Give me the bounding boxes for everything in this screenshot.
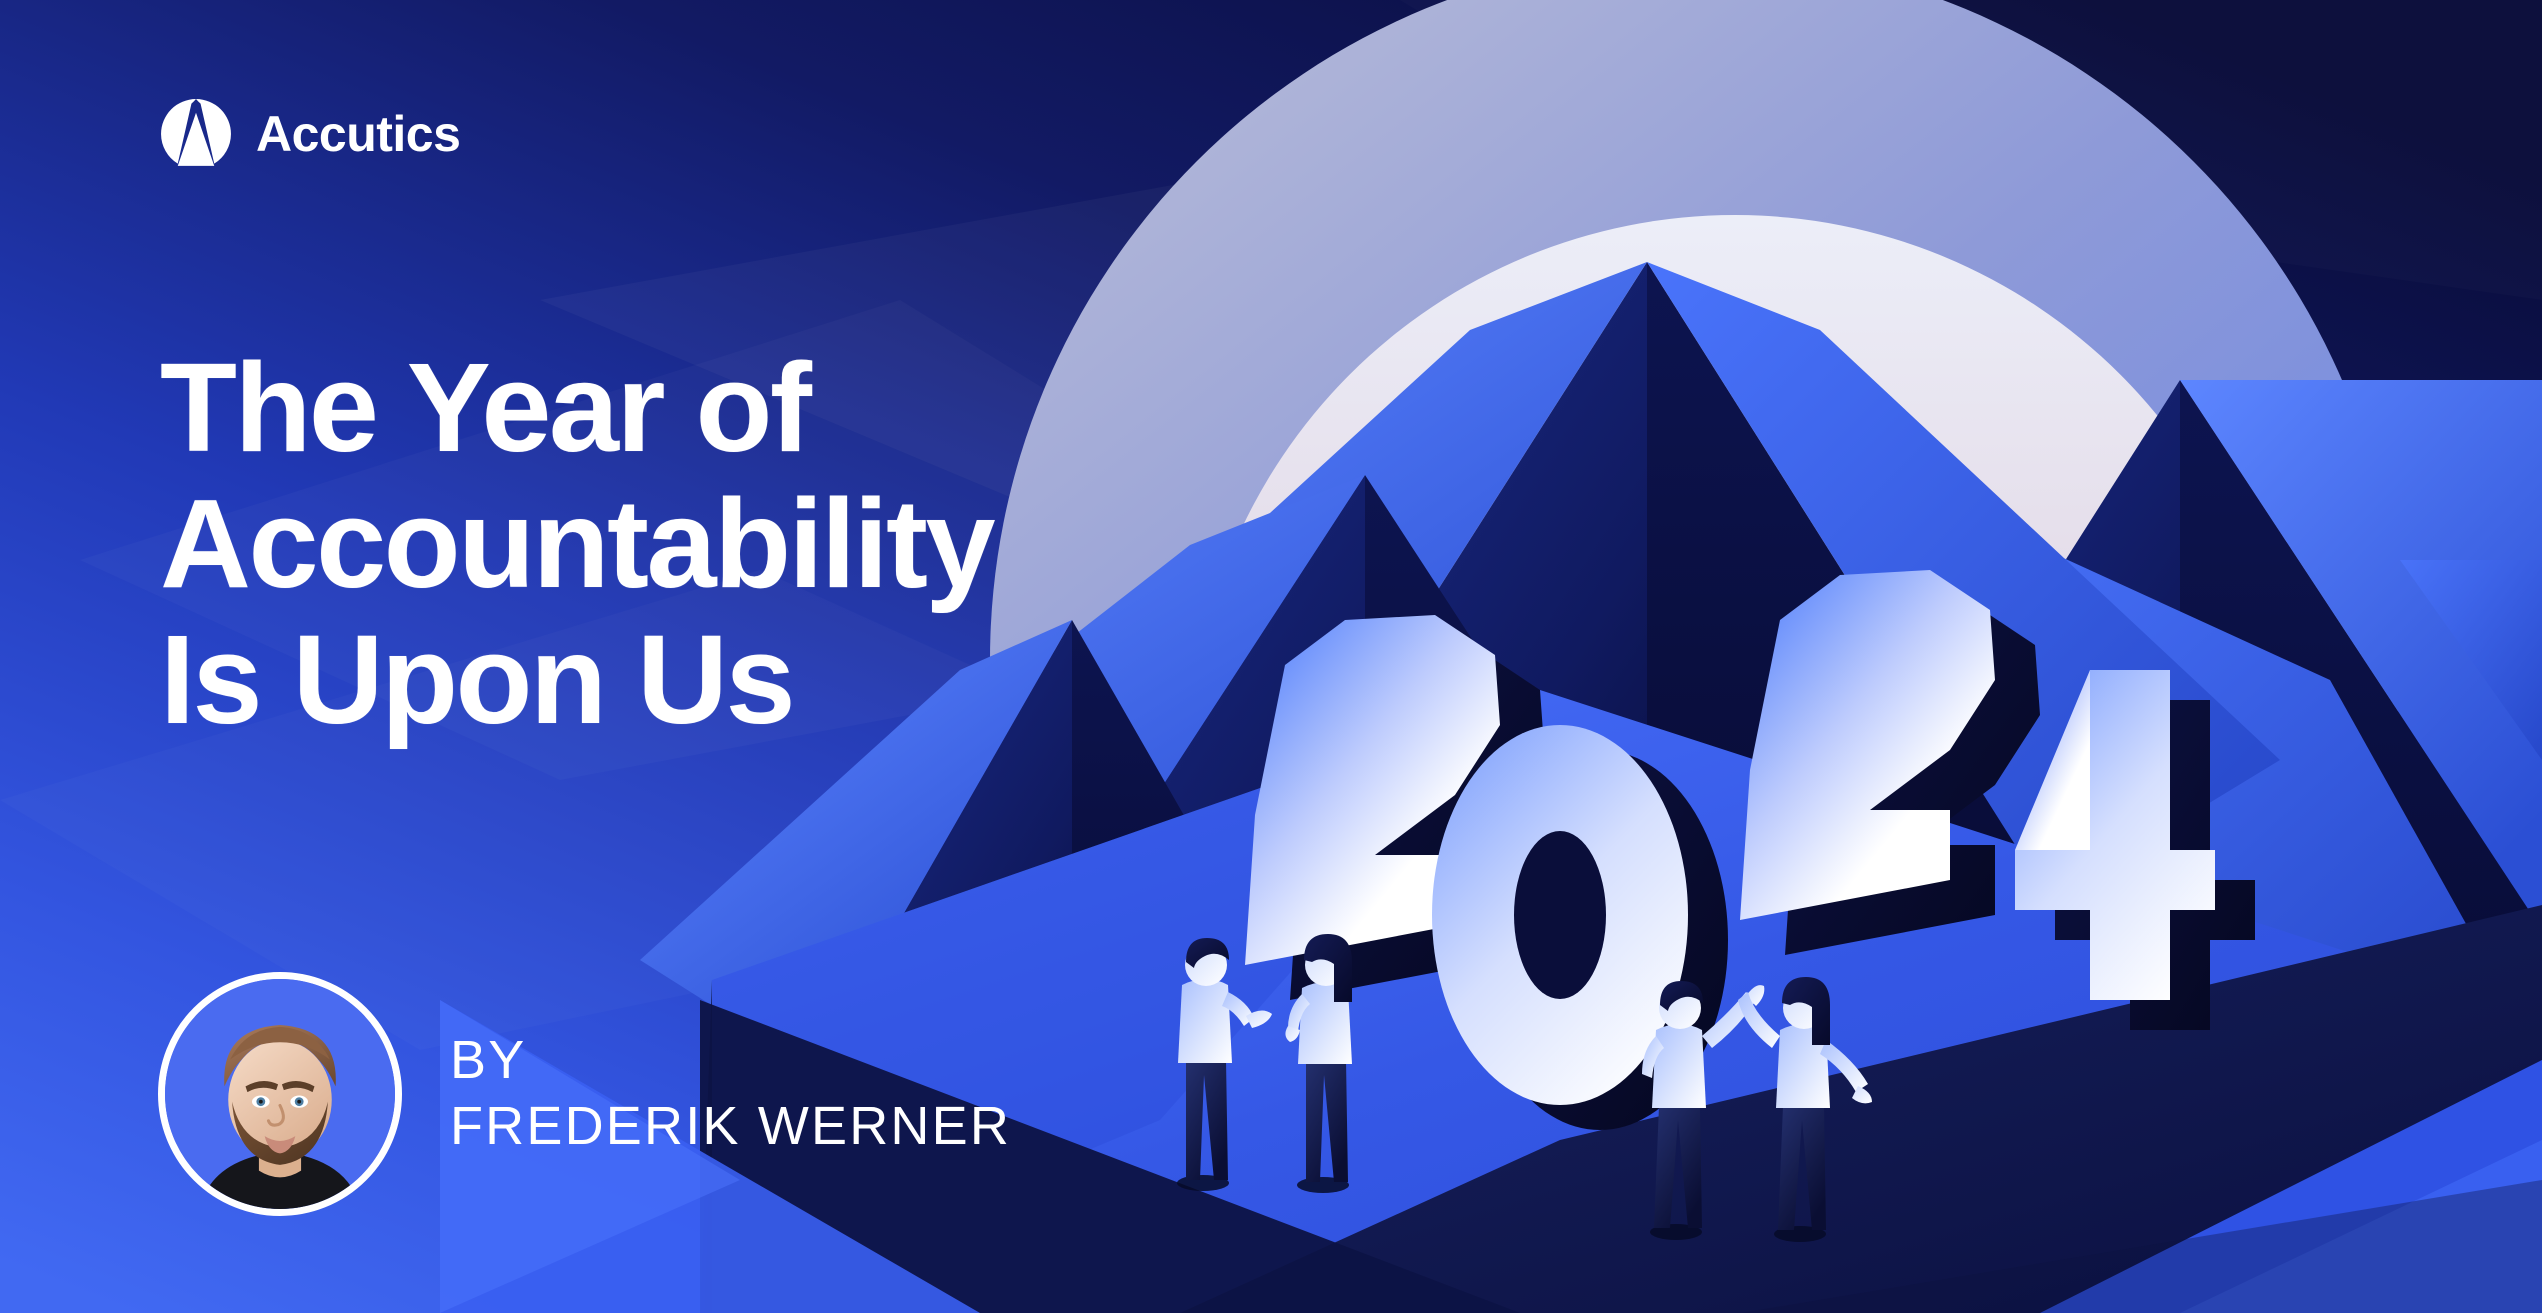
numeral-2-second [1740,570,2040,955]
page-title: The Year of Accountability Is Upon Us [160,340,1280,748]
avatar-portrait-illustration [165,979,395,1209]
byline-text: BY FREDERIK WERNER [450,1028,1011,1160]
headline-line-3: Is Upon Us [160,612,1280,748]
avatar [158,972,402,1216]
accutics-circle-a-logo-icon [158,96,234,172]
byline-author: FREDERIK WERNER [450,1094,1011,1160]
headline-line-2: Accountability [160,476,1280,612]
byline: BY FREDERIK WERNER [158,972,1011,1216]
brand-lockup[interactable]: Accutics [158,96,460,172]
headline-line-1: The Year of [160,340,1280,476]
hero-banner: Accutics The Year of Accountability Is U… [0,0,2542,1313]
byline-prefix: BY [450,1028,1011,1094]
brand-name: Accutics [256,109,460,159]
